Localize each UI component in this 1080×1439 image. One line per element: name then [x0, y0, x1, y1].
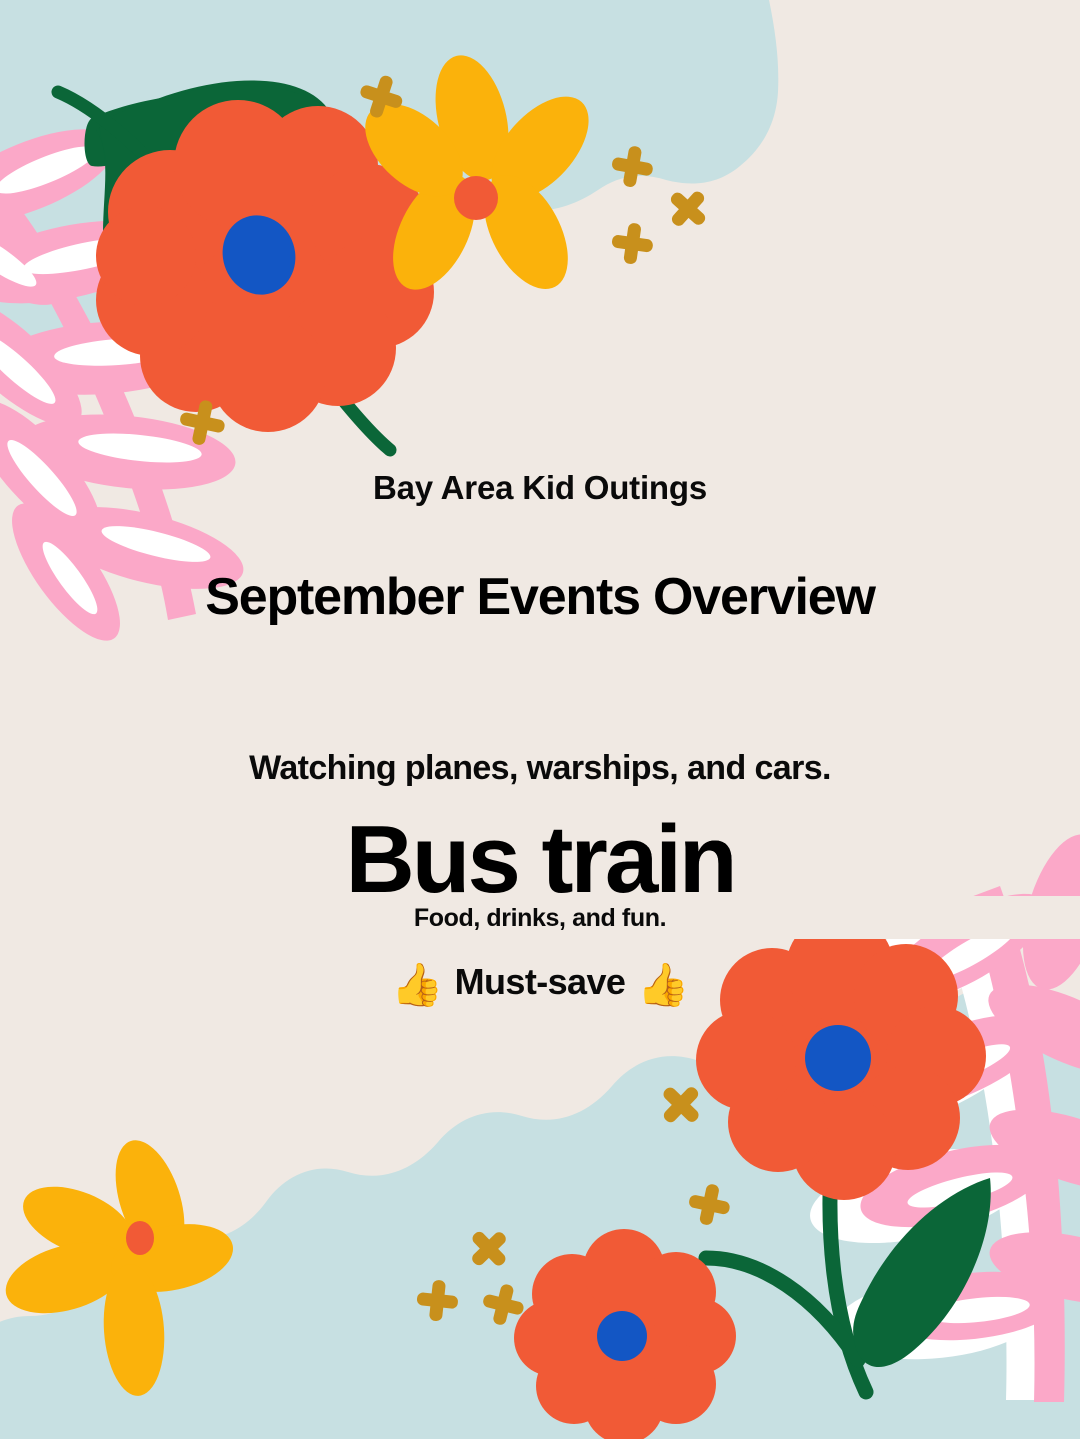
page-title: September Events Overview	[0, 566, 1080, 628]
brand-name: Bay Area Kid Outings	[0, 468, 1080, 508]
subtitle-secondary: Food, drinks, and fun.	[0, 896, 1080, 939]
thumbs-up-icon-right: 👍	[637, 961, 689, 1008]
cta-must-save: 👍Must-save👍	[0, 958, 1080, 1013]
poster-canvas: Bay Area Kid Outings September Events Ov…	[0, 0, 1080, 1439]
poster-text-content: Bay Area Kid Outings September Events Ov…	[0, 0, 1080, 1439]
cta-label: Must-save	[455, 961, 626, 1002]
subtitle-primary: Watching planes, warships, and cars.	[0, 748, 1080, 789]
thumbs-up-icon-left: 👍	[391, 961, 443, 1008]
